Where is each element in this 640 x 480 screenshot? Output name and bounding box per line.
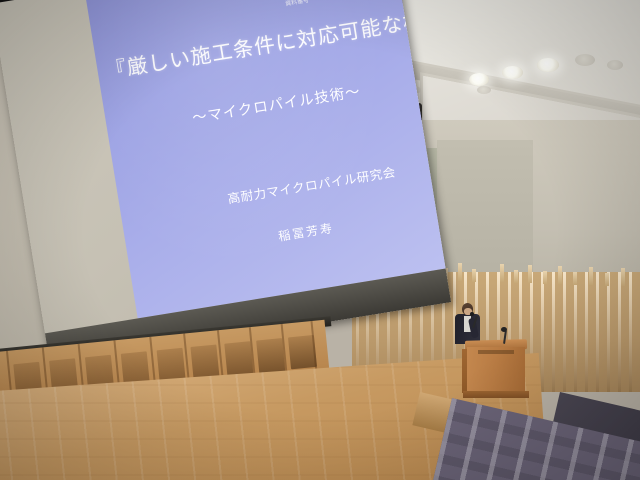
projected-slide: 平成27年度 一般社団法人コンクリートメンテナンス協会 「コンクリート構造物の補… (81, 0, 445, 318)
downlight-icon (502, 66, 523, 79)
slide-organization: 高耐力マイクロパイル研究会 (226, 161, 397, 207)
slat-batten (558, 266, 562, 284)
slide-title: 『厳しい施工条件に対応可能な杭基礎工法』 (103, 0, 451, 84)
slat-batten (458, 263, 462, 281)
podium-nameplate (478, 350, 514, 354)
slat-batten (621, 268, 625, 286)
slat-batten (514, 270, 518, 283)
slat-batten (573, 272, 577, 285)
slat-batten (472, 269, 476, 282)
slide-subtitle: ～マイクロパイル技術～ (191, 80, 362, 128)
slat-batten (589, 267, 593, 285)
downlight-icon (537, 58, 559, 72)
podium-base (463, 391, 529, 398)
downlight-icon (607, 60, 623, 70)
slide-doc-code: 資料番号 (285, 0, 310, 8)
downlight-icon (477, 86, 491, 94)
podium-microphone-icon (501, 327, 507, 332)
wall-accent-panel-right (437, 140, 533, 290)
slat-batten (528, 265, 532, 283)
podium (467, 347, 525, 395)
slat-batten (500, 264, 504, 282)
slat-batten (605, 273, 609, 286)
slat-batten (543, 271, 547, 284)
lecture-hall-photo: 平成27年度 一般社団法人コンクリートメンテナンス協会 「コンクリート構造物の補… (0, 0, 640, 480)
handheld-microphone-icon (470, 312, 474, 316)
downlight-icon (469, 73, 489, 86)
downlight-icon (575, 54, 595, 66)
slide-presenter-name: 稲冨芳寿 (277, 219, 335, 245)
projection-screen: 平成27年度 一般社団法人コンクリートメンテナンス協会 「コンクリート構造物の補… (0, 0, 451, 367)
